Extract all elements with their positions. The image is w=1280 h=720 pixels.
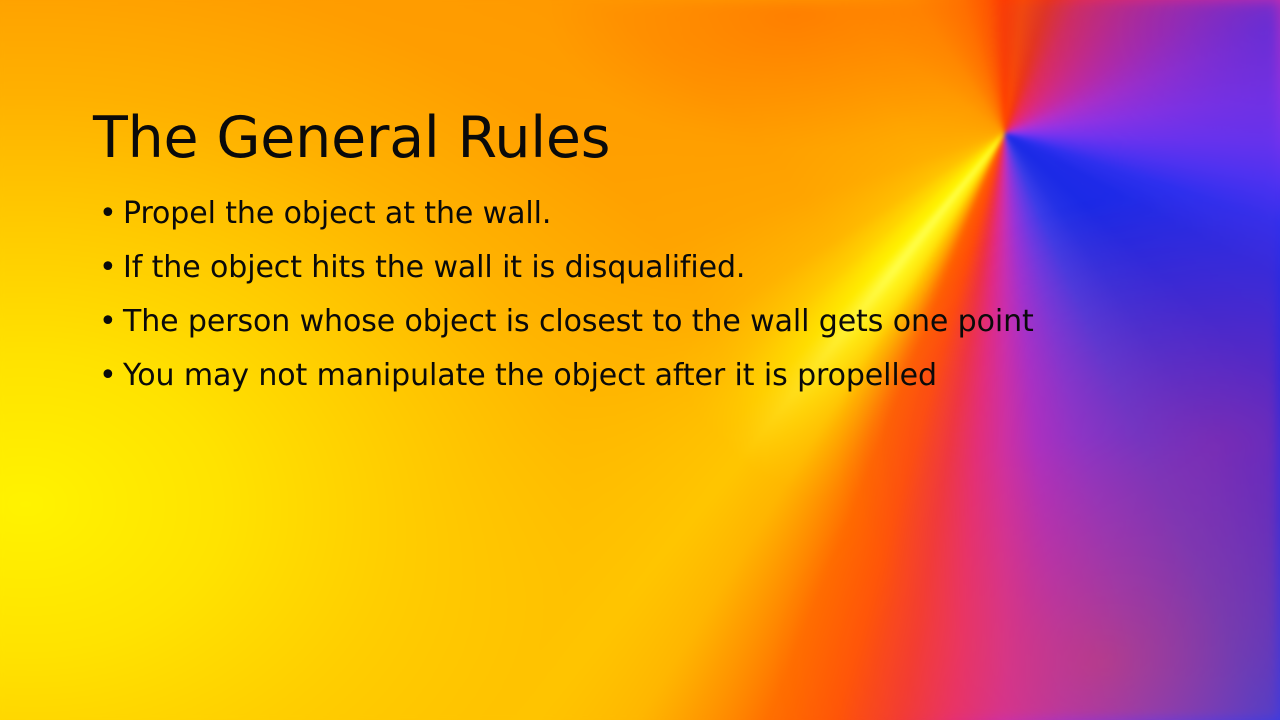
presentation-slide: The General Rules • Propel the object at… <box>0 0 1280 720</box>
bullet-list: • Propel the object at the wall. • If th… <box>96 193 1196 409</box>
bullet-point-icon: • <box>99 355 119 397</box>
bullet-item-4: • You may not manipulate the object afte… <box>96 355 1196 409</box>
bullet-item-label: Propel the object at the wall. <box>123 196 551 231</box>
bullet-point-icon: • <box>99 247 119 289</box>
bullet-item-label: If the object hits the wall it is disqua… <box>123 250 745 285</box>
bullet-item-3: • The person whose object is closest to … <box>96 301 1196 355</box>
bullet-point-icon: • <box>99 301 119 343</box>
bullet-item-1: • Propel the object at the wall. <box>96 193 1196 247</box>
bullet-item-2: • If the object hits the wall it is disq… <box>96 247 1196 301</box>
slide-content: The General Rules • Propel the object at… <box>0 0 1280 720</box>
bullet-point-icon: • <box>99 193 119 235</box>
bullet-item-label: The person whose object is closest to th… <box>123 304 1034 339</box>
bullet-item-label: You may not manipulate the object after … <box>123 358 937 393</box>
slide-title: The General Rules <box>93 109 610 169</box>
